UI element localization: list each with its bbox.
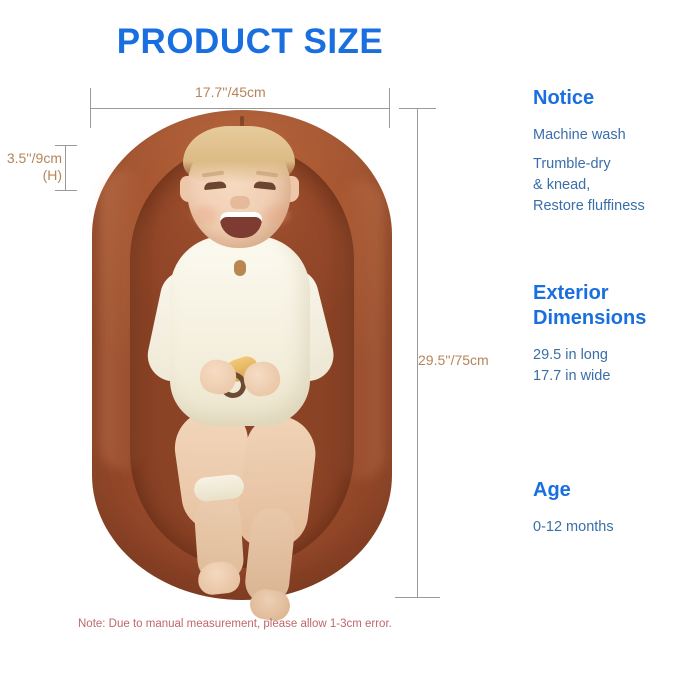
age-block: Age 0-12 months	[533, 478, 679, 538]
exterior-heading-line1: Exterior	[533, 281, 679, 306]
thickness-unit-note: (H)	[0, 167, 62, 184]
notice-line-2: Trumble-dry	[533, 154, 679, 175]
page-title: PRODUCT SIZE	[0, 22, 500, 62]
thickness-cap-top	[55, 145, 77, 146]
exterior-line-1: 29.5 in long	[533, 345, 679, 366]
height-cap-bottom	[395, 597, 440, 598]
baby-hair	[183, 126, 295, 184]
onesie-button	[234, 260, 246, 276]
age-line-1: 0-12 months	[533, 517, 679, 538]
width-dimension-line	[90, 108, 390, 109]
height-cap-top	[399, 108, 436, 109]
baby-figure	[92, 110, 392, 600]
notice-block: Notice Machine wash Trumble-dry & knead,…	[533, 86, 679, 217]
thickness-dimension-label: 3.5''/9cm (H)	[0, 150, 62, 184]
notice-line-1: Machine wash	[533, 125, 679, 146]
width-dimension-label: 17.7''/45cm	[195, 84, 266, 100]
baby-nose	[230, 196, 250, 209]
exterior-heading-line2: Dimensions	[533, 306, 679, 331]
height-dimension-label: 29.5''/75cm	[418, 352, 489, 368]
baby-cheek-right	[264, 206, 290, 224]
measurement-note: Note: Due to manual measurement, please …	[78, 618, 418, 630]
infographic-canvas: PRODUCT SIZE	[0, 0, 679, 679]
notice-heading: Notice	[533, 86, 679, 111]
width-tick-left	[90, 88, 91, 128]
exterior-line-2: 17.7 in wide	[533, 366, 679, 387]
age-heading: Age	[533, 478, 679, 503]
thickness-dimension-line	[65, 145, 66, 191]
product-image	[92, 110, 392, 600]
exterior-dimensions-block: Exterior Dimensions 29.5 in long 17.7 in…	[533, 281, 679, 387]
thickness-value: 3.5''/9cm	[0, 150, 62, 167]
notice-line-3: & knead,	[533, 175, 679, 196]
baby-cheek-left	[192, 206, 218, 224]
thickness-cap-bottom	[55, 190, 77, 191]
notice-line-4: Restore fluffiness	[533, 196, 679, 217]
width-tick-right	[389, 88, 390, 128]
